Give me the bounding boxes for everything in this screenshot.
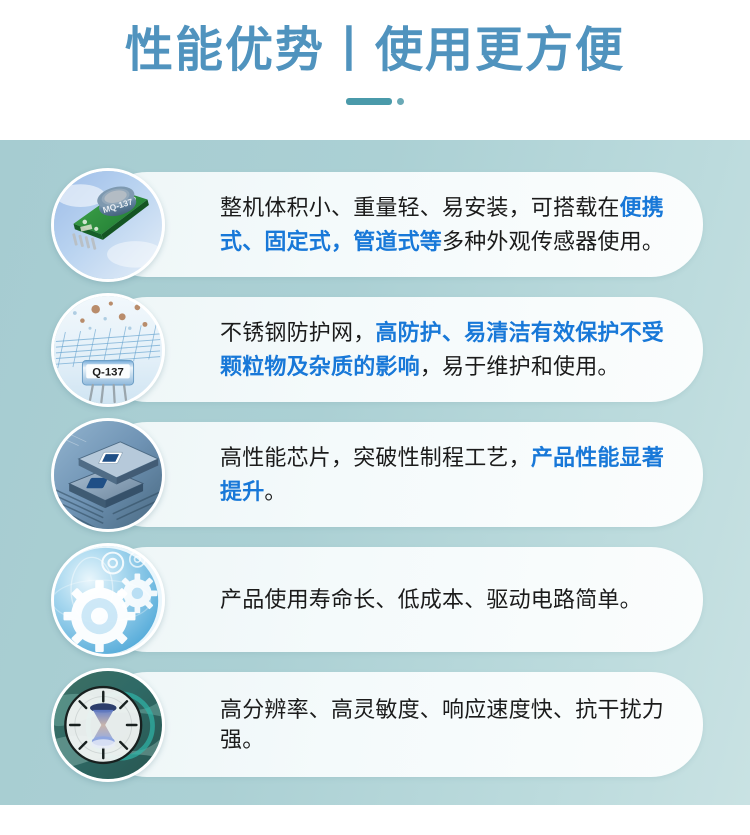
page-footer-space [0, 805, 750, 835]
list-item: 不锈钢防护网，高防护、易清洁有效保护不受颗粒物及杂质的影响，易于维护和使用。 [0, 297, 750, 402]
feature-5-segment-0: 高分辨率、高灵敏度、响应速度快、抗干扰力强。 [220, 697, 664, 752]
feature-list: 整机体积小、重量轻、易安装，可搭载在便携式、固定式，管道式等多种外观传感器使用。 [0, 172, 750, 797]
feature-1-segment-2: 多种外观传感器使用。 [442, 229, 664, 254]
feature-text-1: 整机体积小、重量轻、易安装，可搭载在便携式、固定式，管道式等多种外观传感器使用。 [220, 191, 675, 259]
feature-text-5: 高分辨率、高灵敏度、响应速度快、抗干扰力强。 [220, 695, 675, 755]
gears-globe-icon [51, 543, 165, 657]
microchip-icon [51, 418, 165, 532]
feature-2-segment-2: ，易于维护和使用。 [420, 354, 620, 379]
feature-1-segment-0: 整机体积小、重量轻、易安装，可搭载在 [220, 195, 620, 220]
page-header: 性能优势丨使用更方便 [0, 0, 750, 140]
feature-text-3: 高性能芯片，突破性制程工艺，产品性能显著提升。 [220, 441, 675, 509]
feature-card-1: 整机体积小、重量轻、易安装，可搭载在便携式、固定式，管道式等多种外观传感器使用。 [95, 172, 703, 277]
feature-card-5: 高分辨率、高灵敏度、响应速度快、抗干扰力强。 [95, 672, 703, 777]
feature-4-segment-0: 产品使用寿命长、低成本、驱动电路简单。 [220, 587, 642, 612]
divider-dot [397, 98, 404, 105]
page-title: 性能优势丨使用更方便 [0, 22, 750, 80]
list-item: 高性能芯片，突破性制程工艺，产品性能显著提升。 [0, 422, 750, 527]
protective-mesh-sensor-icon: Q-137 [51, 293, 165, 407]
svg-text:Q-137: Q-137 [92, 367, 124, 379]
list-item: 高分辨率、高灵敏度、响应速度快、抗干扰力强。 [0, 672, 750, 777]
title-divider [0, 94, 750, 108]
feature-3-segment-0: 高性能芯片，突破性制程工艺， [220, 445, 531, 470]
list-item: 整机体积小、重量轻、易安装，可搭载在便携式、固定式，管道式等多种外观传感器使用。 [0, 172, 750, 277]
gas-sensor-module-icon: MQ-137 [51, 168, 165, 282]
list-item: 产品使用寿命长、低成本、驱动电路简单。 [0, 547, 750, 652]
feature-2-segment-0: 不锈钢防护网， [220, 320, 375, 345]
feature-3-segment-2: 。 [264, 479, 286, 504]
feature-text-4: 产品使用寿命长、低成本、驱动电路简单。 [220, 585, 675, 615]
clock-hourglass-icon [51, 668, 165, 782]
feature-card-4: 产品使用寿命长、低成本、驱动电路简单。 [95, 547, 703, 652]
feature-card-3: 高性能芯片，突破性制程工艺，产品性能显著提升。 [95, 422, 703, 527]
divider-bar [346, 98, 392, 105]
feature-card-2: 不锈钢防护网，高防护、易清洁有效保护不受颗粒物及杂质的影响，易于维护和使用。 [95, 297, 703, 402]
feature-text-2: 不锈钢防护网，高防护、易清洁有效保护不受颗粒物及杂质的影响，易于维护和使用。 [220, 316, 675, 384]
